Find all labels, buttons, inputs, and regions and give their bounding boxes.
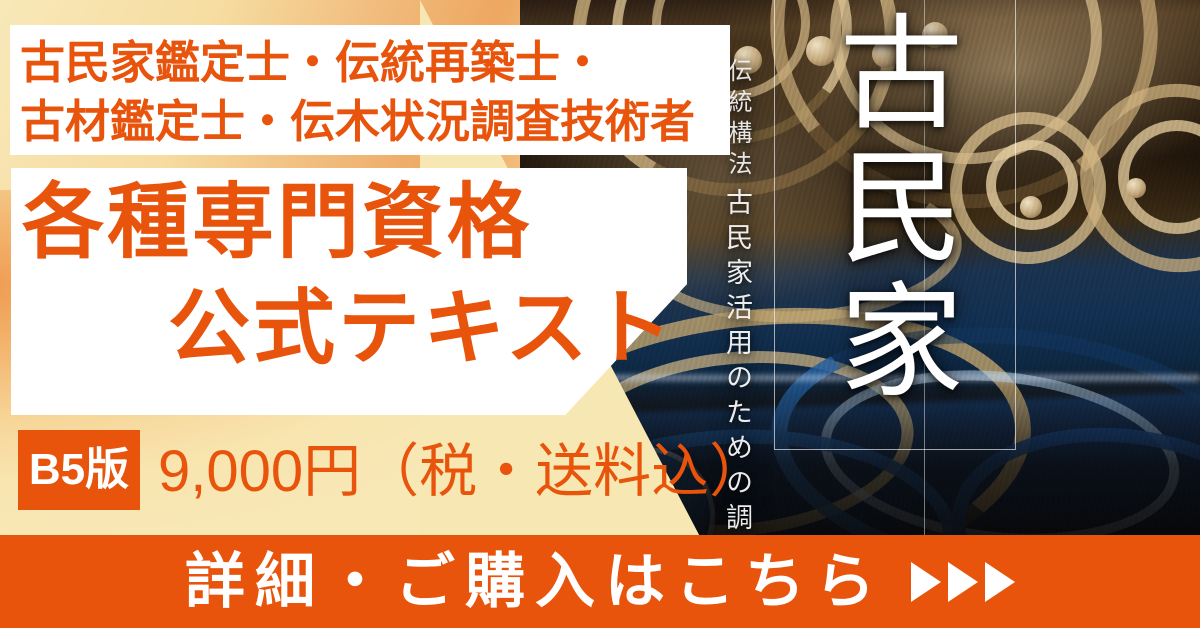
cta-arrows bbox=[911, 562, 1015, 602]
qualification-line-1: 古民家鑑定士・伝統再築士・ bbox=[20, 33, 720, 92]
cta-label: 詳細・ご購入はこちら bbox=[185, 552, 885, 612]
promo-banner: 伝統構法 古民家活用のための調査と再生の 古民家 古民家鑑定士・伝統再築士・ 古… bbox=[0, 0, 1200, 628]
format-badge: B5版 bbox=[18, 430, 140, 510]
play-arrow-icon bbox=[948, 562, 978, 602]
price-text: 9,000円（税・送料込） bbox=[158, 436, 767, 509]
qualification-line-2: 古材鑑定士・伝木状況調査技術者 bbox=[20, 92, 720, 151]
play-arrow-icon bbox=[985, 562, 1015, 602]
cover-title-text: 古民家 bbox=[815, 8, 961, 410]
headline-line-2: 公式テキスト bbox=[168, 288, 676, 370]
cover-subtitle-text: 古民家活用のための調査と再生の bbox=[718, 188, 757, 575]
qualifications-text: 古民家鑑定士・伝統再築士・ 古材鑑定士・伝木状況調査技術者 bbox=[20, 33, 720, 152]
cta-content: 詳細・ご購入はこちら bbox=[185, 552, 1015, 612]
headline-line-1: 各種専門資格 bbox=[22, 182, 532, 264]
play-arrow-icon bbox=[911, 562, 941, 602]
cta-bar[interactable]: 詳細・ご購入はこちら bbox=[0, 535, 1200, 628]
